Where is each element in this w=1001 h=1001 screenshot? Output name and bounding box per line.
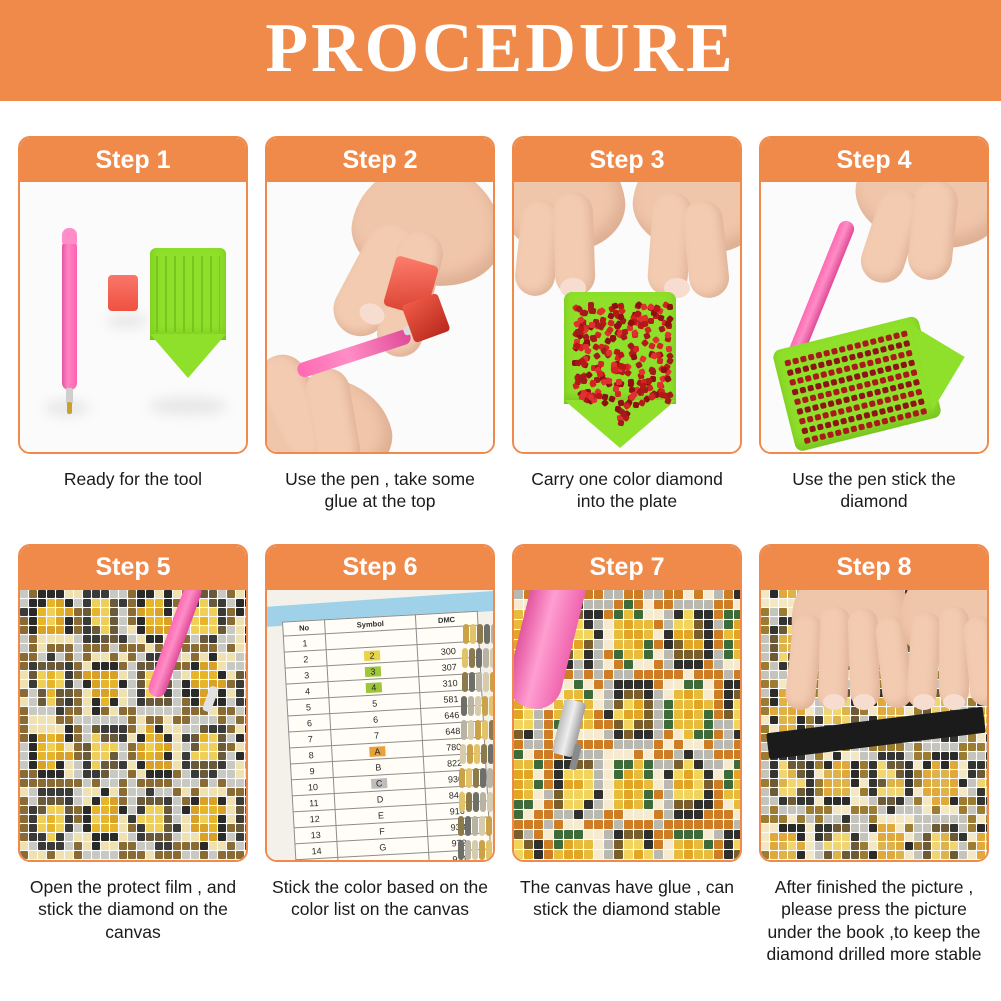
color-list-chart: No Symbol DMC 12230033307443105558166646… — [267, 590, 493, 860]
step-6-card: Step 6 No Symbol DMC — [265, 544, 495, 862]
step-6-caption: Stick the color based on the color list … — [268, 876, 492, 921]
step-1-card: Step 1 — [18, 136, 248, 454]
tools-photo — [20, 182, 246, 452]
step-7-caption: The canvas have glue , can stick the dia… — [515, 876, 739, 921]
step-3-title: Step 3 — [514, 138, 740, 182]
step-3-image — [514, 182, 740, 452]
hand-pen-glue-photo — [267, 182, 493, 452]
sunflower-canvas-photo — [20, 590, 246, 860]
step-2-image — [267, 182, 493, 452]
step-7-card: Step 7 — [512, 544, 742, 862]
procedure-infographic: PROCEDURE Step 1 — [0, 0, 1001, 1001]
step-5-card: Step 5 — [18, 544, 248, 862]
pressing-picture-photo — [761, 590, 987, 860]
step-2-card: Step 2 — [265, 136, 495, 454]
step-2-title: Step 2 — [267, 138, 493, 182]
step-4-title: Step 4 — [761, 138, 987, 182]
step-card-4: Step 4 — [759, 136, 989, 513]
step-5-image — [20, 590, 246, 860]
page-title: PROCEDURE — [265, 14, 735, 88]
step-1-caption: Ready for the tool — [21, 468, 245, 490]
pen-picking-diamond-photo — [761, 182, 987, 452]
step-6-title: Step 6 — [267, 546, 493, 590]
step-3-card: Step 3 — [512, 136, 742, 454]
step-4-image — [761, 182, 987, 452]
step-card-2: Step 2 — [265, 136, 495, 513]
pink-pen-icon — [62, 240, 77, 390]
step-5-title: Step 5 — [20, 546, 246, 590]
diamonds-in-tray-photo — [514, 182, 740, 452]
step-8-card: Step 8 — [759, 544, 989, 862]
step-8-caption: After finished the picture , please pres… — [762, 876, 986, 966]
step-8-image — [761, 590, 987, 860]
step-1-image — [20, 182, 246, 452]
step-6-image: No Symbol DMC 12230033307443105558166646… — [267, 590, 493, 860]
step-7-image — [514, 590, 740, 860]
step-card-5: Step 5 Open the protect film , and stick… — [18, 544, 248, 966]
step-5-caption: Open the protect film , and stick the di… — [21, 876, 245, 943]
step-4-caption: Use the pen stick the diamond — [762, 468, 986, 513]
green-tray-icon — [150, 248, 226, 366]
step-card-8: Step 8 — [759, 544, 989, 966]
steps-row-2: Step 5 Open the protect film , and stick… — [0, 544, 1001, 966]
pen-on-canvas-photo — [514, 590, 740, 860]
step-card-7: Step 7 The canvas have glue , can stick … — [512, 544, 742, 966]
step-card-6: Step 6 No Symbol DMC — [265, 544, 495, 966]
step-7-title: Step 7 — [514, 546, 740, 590]
step-card-1: Step 1 — [18, 136, 248, 513]
step-1-title: Step 1 — [20, 138, 246, 182]
step-2-caption: Use the pen , take some glue at the top — [268, 468, 492, 513]
step-8-title: Step 8 — [761, 546, 987, 590]
glue-square-icon — [108, 275, 138, 311]
header-banner: PROCEDURE — [0, 0, 1001, 101]
steps-grid: Step 1 — [0, 101, 1001, 965]
step-card-3: Step 3 — [512, 136, 742, 513]
step-4-card: Step 4 — [759, 136, 989, 454]
steps-row-1: Step 1 — [0, 136, 1001, 513]
step-3-caption: Carry one color diamond into the plate — [515, 468, 739, 513]
